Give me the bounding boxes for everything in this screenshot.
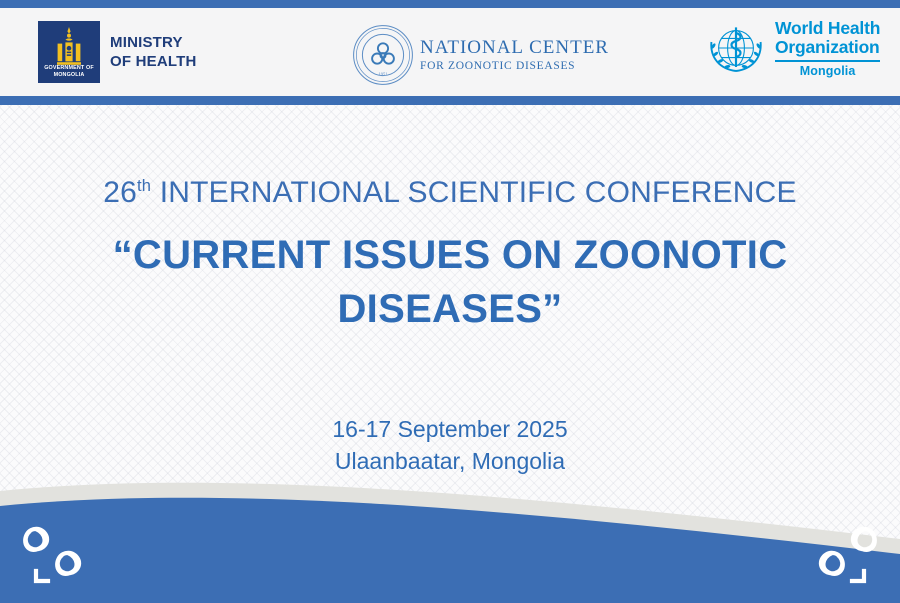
conference-ordinal-line: 26th INTERNATIONAL SCIENTIFIC CONFERENCE [0, 176, 900, 210]
conference-ordinal-suffix: th [137, 177, 151, 195]
biohazard-seal-icon: 1951 [352, 24, 414, 86]
who-divider-rule [775, 60, 880, 62]
ncz-label-line2: FOR ZOONOTIC DISEASES [420, 60, 609, 72]
conference-title-slide: GOVERNMENT OF MONGOLIA MINISTRY OF HEALT… [0, 0, 900, 603]
ministry-of-health-logo: GOVERNMENT OF MONGOLIA MINISTRY OF HEALT… [38, 21, 197, 83]
mongolia-soyombo-emblem-icon: GOVERNMENT OF MONGOLIA [38, 21, 100, 83]
seal-year: 1951 [378, 72, 388, 77]
moh-label-line2: OF HEALTH [110, 52, 197, 71]
moh-label-line1: MINISTRY [110, 33, 197, 52]
moh-emblem-line2: MONGOLIA [38, 72, 100, 79]
national-center-label: NATIONAL CENTER FOR ZOONOTIC DISEASES [420, 38, 609, 72]
page-title: “CURRENT ISSUES ON ZOONOTIC DISEASES” [60, 228, 840, 336]
ncz-label-line1: NATIONAL CENTER [420, 38, 609, 58]
header-divider-stripe [0, 96, 900, 105]
conference-ordinal-number: 26 [103, 176, 137, 209]
wave-blue-band [0, 498, 900, 603]
page-title-line2: DISEASES” [60, 282, 840, 336]
bottom-wave-decoration [0, 463, 900, 603]
page-title-line1: “CURRENT ISSUES ON ZOONOTIC [60, 228, 840, 282]
moh-emblem-caption: GOVERNMENT OF MONGOLIA [38, 65, 100, 79]
who-country-label: Mongolia [775, 64, 880, 78]
national-center-zoonotic-diseases-logo: 1951 NATIONAL CENTER FOR ZOONOTIC DISEAS… [352, 24, 609, 86]
who-logo: World Health Organization Mongolia [703, 19, 880, 81]
event-dates: 16-17 September 2025 [0, 413, 900, 445]
mongolian-ulzii-knot-icon [804, 519, 886, 593]
ministry-of-health-label: MINISTRY OF HEALTH [110, 33, 197, 71]
top-accent-stripe [0, 0, 900, 8]
mongolian-ulzii-knot-icon [14, 519, 96, 593]
conference-line-text: INTERNATIONAL SCIENTIFIC CONFERENCE [151, 176, 797, 209]
who-label: World Health Organization Mongolia [775, 19, 880, 78]
who-label-line2: Organization [775, 38, 880, 57]
who-globe-asclepius-icon [703, 19, 769, 81]
moh-emblem-line1: GOVERNMENT OF [38, 65, 100, 72]
who-label-line1: World Health [775, 19, 880, 38]
